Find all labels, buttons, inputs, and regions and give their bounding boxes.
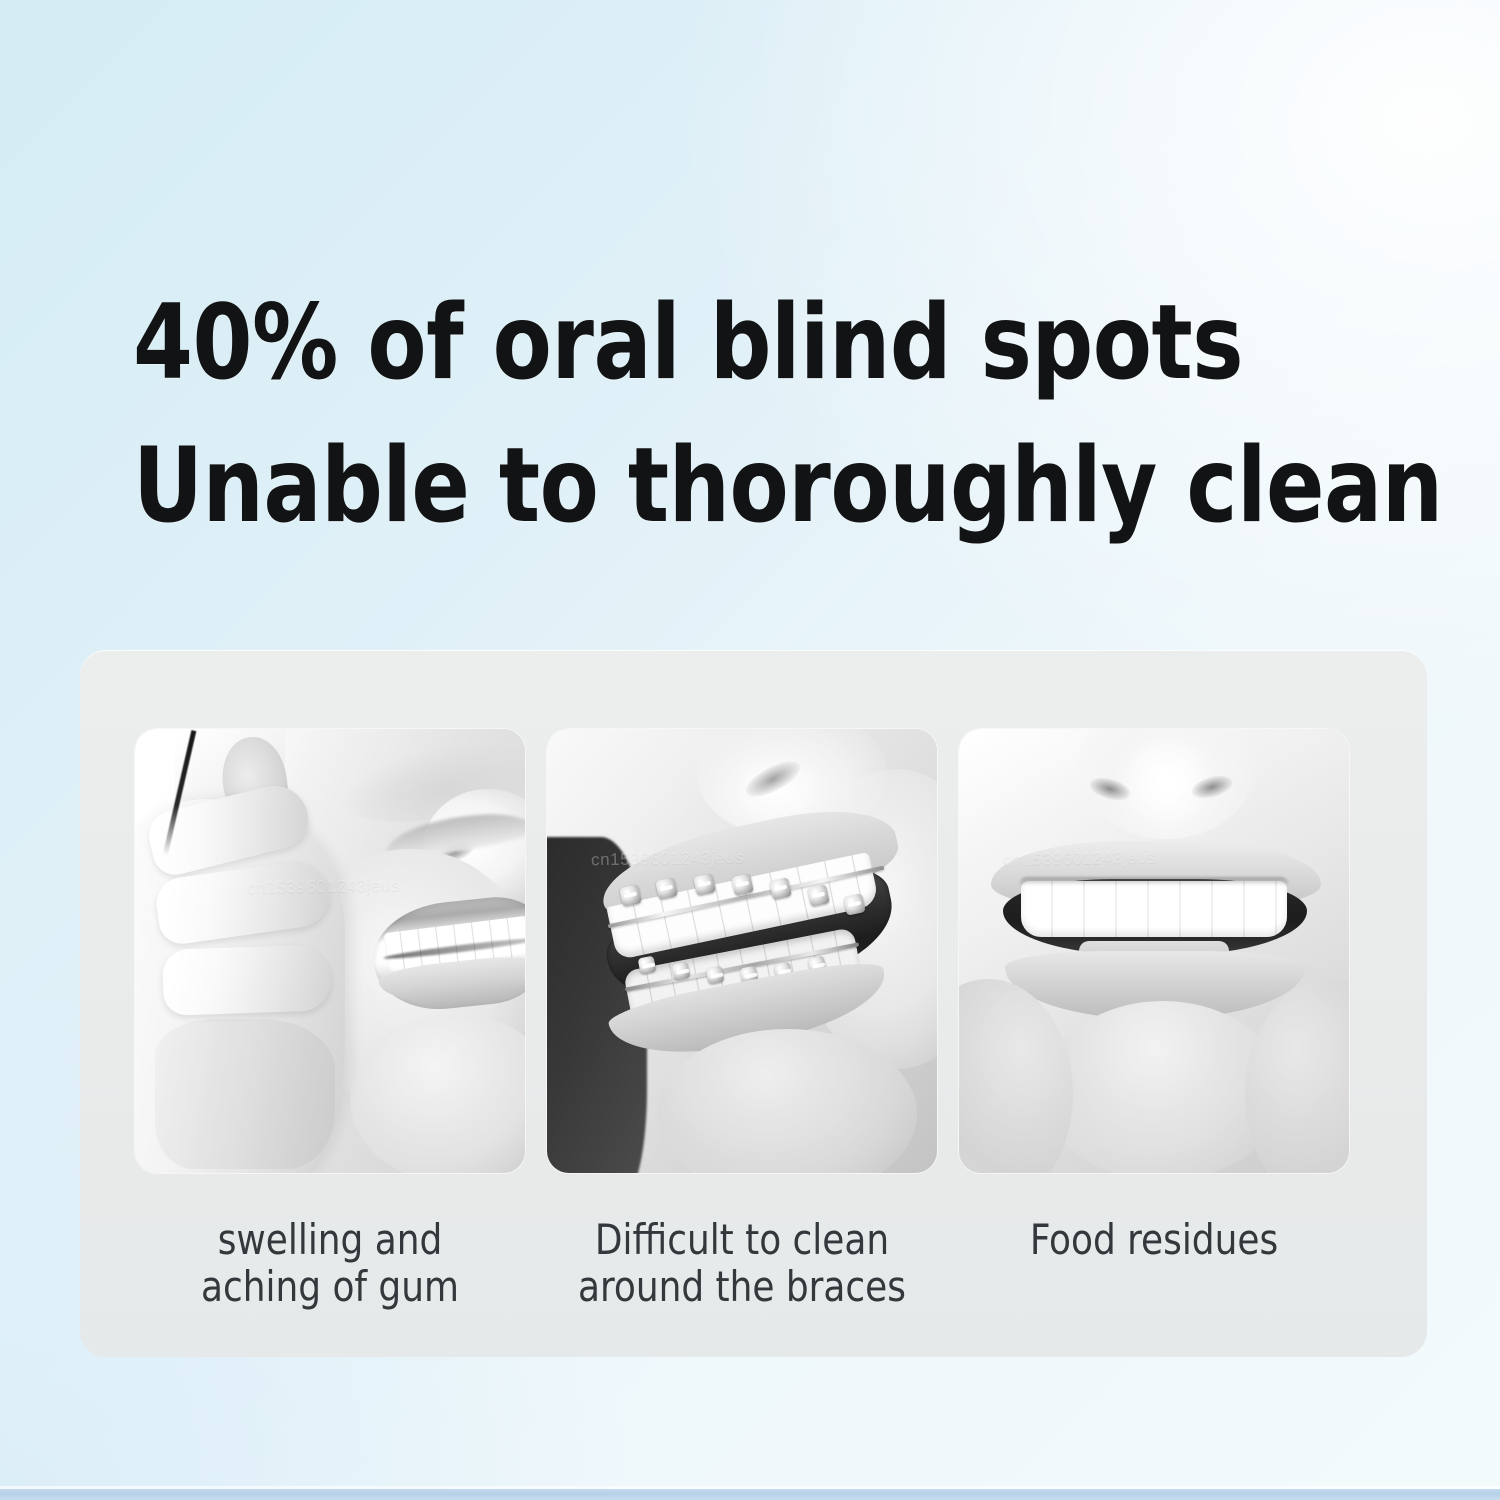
photo-gum-pain[interactable]: cn1539601243jeus <box>135 729 525 1173</box>
photo-braces-image <box>547 729 937 1173</box>
headline-line-1: 40% of oral blind spots <box>133 272 1379 415</box>
photo-food-residues[interactable]: cn1539601243jeus <box>959 729 1349 1173</box>
caption-gum-pain-line-2: aching of gum <box>145 1263 516 1310</box>
caption-braces-line-2: around the braces <box>557 1263 928 1310</box>
caption-food-residues: Food residues <box>969 1216 1340 1310</box>
photo-row: cn1539601243jeus <box>135 729 1349 1173</box>
photo-food-residues-image <box>959 729 1349 1173</box>
caption-braces-line-1: Difficult to clean <box>557 1216 928 1263</box>
caption-gum-pain: swelling and aching of gum <box>145 1216 516 1310</box>
headline-line-2: Unable to thoroughly clean <box>133 415 1379 558</box>
caption-row: swelling and aching of gum Difficult to … <box>135 1216 1349 1310</box>
panel-card: cn1539601243jeus <box>80 650 1427 1357</box>
caption-food-residues-line-1: Food residues <box>969 1216 1340 1263</box>
caption-gum-pain-line-1: swelling and <box>145 1216 516 1263</box>
caption-braces: Difficult to clean around the braces <box>557 1216 928 1310</box>
photo-braces[interactable]: cn1539601243jeus <box>547 729 937 1173</box>
bottom-strip <box>0 1489 1500 1500</box>
headline-block: 40% of oral blind spots Unable to thorou… <box>133 272 1473 558</box>
photo-gum-pain-image <box>135 729 525 1173</box>
